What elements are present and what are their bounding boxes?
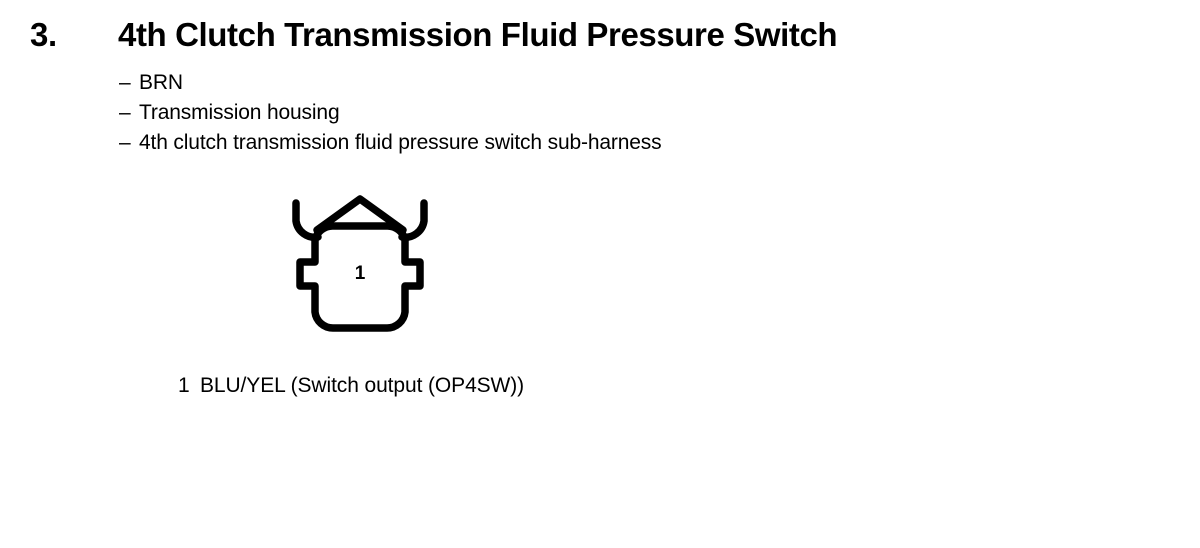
list-item-label: BRN — [139, 71, 183, 94]
section-heading: 3. 4th Clutch Transmission Fluid Pressur… — [0, 14, 1200, 60]
legend-pin-description: BLU/YEL (Switch output (OP4SW)) — [200, 374, 524, 397]
dash-icon: – — [119, 128, 139, 158]
list-item-label: 4th clutch transmission fluid pressure s… — [139, 131, 662, 154]
document-page: 3. 4th Clutch Transmission Fluid Pressur… — [0, 0, 1200, 548]
connector-diagram: 1 — [280, 185, 465, 345]
pin-legend: 1BLU/YEL (Switch output (OP4SW)) — [178, 373, 978, 399]
dash-icon: – — [119, 68, 139, 98]
connector-pin-number: 1 — [355, 263, 366, 284]
legend-pin-number: 1 — [178, 373, 200, 399]
list-item: –4th clutch transmission fluid pressure … — [119, 128, 1019, 158]
specification-list: –BRN –Transmission housing –4th clutch t… — [119, 68, 1019, 158]
legend-row: 1BLU/YEL (Switch output (OP4SW)) — [178, 373, 978, 399]
list-item: –Transmission housing — [119, 98, 1019, 128]
dash-icon: – — [119, 98, 139, 128]
connector-outline-svg: 1 — [280, 185, 465, 345]
list-item-label: Transmission housing — [139, 101, 339, 124]
page-title: 4th Clutch Transmission Fluid Pressure S… — [118, 14, 837, 56]
section-number: 3. — [30, 14, 57, 56]
list-item: –BRN — [119, 68, 1019, 98]
